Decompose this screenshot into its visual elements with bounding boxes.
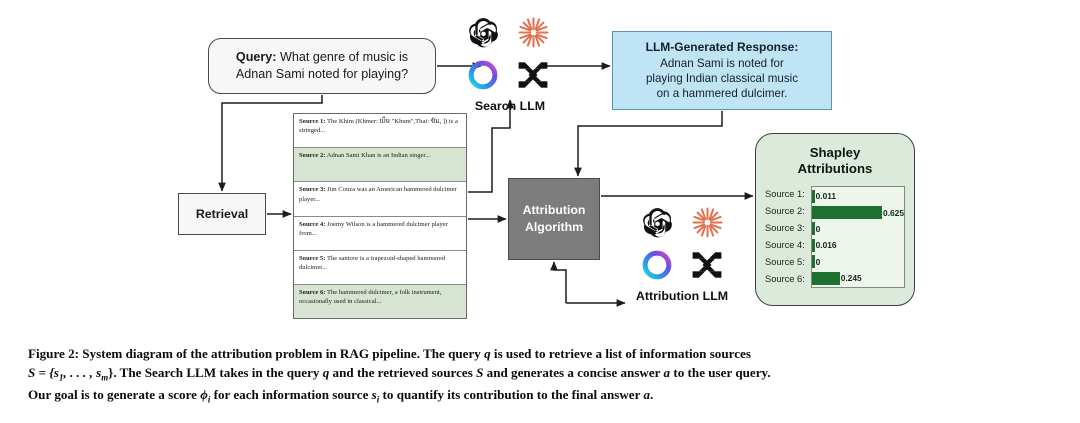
search-llm-cluster: Search LLM <box>458 14 562 113</box>
source-item: Source 4: Joemy Wilson is a hammered dul… <box>294 217 466 251</box>
chart-category-label: Source 6: <box>765 272 811 287</box>
caption-text: Our goal is to generate a score <box>28 387 200 402</box>
shapley-bars-plot: 0.011 0.625 0 0.016 0 <box>811 186 905 288</box>
caption-text: to the user query. <box>670 365 771 380</box>
query-label: Query: <box>236 50 277 64</box>
caption-symbol-phi: ϕ <box>200 387 208 402</box>
chart-bar-row: 0.011 <box>812 189 904 203</box>
shapley-bar-chart: Source 1: Source 2: Source 3: Source 4: … <box>765 186 905 288</box>
caption-text: }. The Search LLM takes in the query <box>108 365 323 380</box>
shapley-title-line1: Shapley <box>765 145 905 161</box>
chart-category-label: Source 4: <box>765 238 811 253</box>
attribution-algorithm-line1: Attribution <box>523 202 586 219</box>
chart-category-label: Source 5: <box>765 255 811 270</box>
chart-bar-value: 0.016 <box>816 240 837 250</box>
chart-bar-row: 0.245 <box>812 271 904 285</box>
source-item: Source 6: The hammered dulcimer, a folk … <box>294 285 466 318</box>
gemini-ring-logo-icon <box>465 57 501 98</box>
gemini-ring-logo-icon <box>639 247 675 288</box>
openai-logo-icon <box>639 204 676 246</box>
llm-response-header: LLM-Generated Response: <box>646 40 799 56</box>
query-text: Query: What genre of music is Adnan Sami… <box>217 49 427 82</box>
llm-response-line3: on a hammered dulcimer. <box>657 86 788 101</box>
chart-bar-value: 0 <box>816 257 821 267</box>
attribution-algorithm-box: Attribution Algorithm <box>508 178 600 260</box>
attribution-llm-caption: Attribution LLM <box>628 289 736 303</box>
chart-bar-value: 0.011 <box>816 191 837 201</box>
source-item: Source 5: The santoor is a trapezoid-sha… <box>294 251 466 285</box>
chart-bar-row: 0 <box>812 222 904 236</box>
chart-bar-row: 0.625 <box>812 206 904 220</box>
shapley-attributions-panel: Shapley Attributions Source 1: Source 2:… <box>755 133 915 306</box>
chart-bar-value: 0 <box>816 224 821 234</box>
source-item: Source 1: The Khim (Khmer: ឃឹម "Khum",Th… <box>294 114 466 148</box>
caption-text: . <box>650 387 653 402</box>
caption-text: and the retrieved sources <box>329 365 476 380</box>
caption-line-1: Figure 2: System diagram of the attribut… <box>28 344 1056 363</box>
source-text: Adnan Sami Khan is an Indian singer... <box>327 152 430 159</box>
caption-text: is used to retrieve a list of informatio… <box>491 346 751 361</box>
chart-bar-value: 0.625 <box>883 208 904 218</box>
anthropic-claude-logo-icon <box>516 15 551 55</box>
mistral-logo-icon <box>515 57 551 98</box>
anthropic-claude-logo-icon <box>690 205 725 245</box>
chart-category-label: Source 2: <box>765 204 811 219</box>
source-item: Source 3: Jim Couza was an American hamm… <box>294 182 466 216</box>
sources-list: Source 1: The Khim (Khmer: ឃឹម "Khum",Th… <box>293 113 467 319</box>
chart-bar-row: 0.016 <box>812 238 904 252</box>
chart-bar <box>812 272 839 285</box>
source-label: Source 2: <box>299 152 325 159</box>
chart-bar <box>812 190 814 203</box>
caption-text: , . . . , s <box>63 365 101 380</box>
caption-line-2: S = {s1, . . . , sm}. The Search LLM tak… <box>28 363 1056 385</box>
caption-text: for each information source <box>210 387 371 402</box>
mistral-logo-icon <box>689 247 725 288</box>
caption-text: and generates a concise answer <box>483 365 663 380</box>
chart-category-label: Source 3: <box>765 221 811 236</box>
llm-response-box: LLM-Generated Response: Adnan Sami is no… <box>612 31 832 110</box>
source-label: Source 3: <box>299 186 325 193</box>
retrieval-box: Retrieval <box>178 193 266 235</box>
llm-response-line2: playing Indian classical music <box>646 71 798 86</box>
chart-bar-value: 0.245 <box>841 273 862 283</box>
chart-bar <box>812 206 882 219</box>
figure-caption: Figure 2: System diagram of the attribut… <box>28 344 1056 407</box>
shapley-title-line2: Attributions <box>765 161 905 177</box>
chart-bar-row: 0 <box>812 255 904 269</box>
source-label: Source 4: <box>299 221 325 228</box>
search-llm-caption: Search LLM <box>458 99 562 113</box>
attribution-llm-logo-grid <box>632 204 736 288</box>
source-label: Source 5: <box>299 255 325 262</box>
attribution-llm-cluster: Attribution LLM <box>632 204 736 303</box>
caption-symbol-S: S = {s <box>28 365 59 380</box>
source-label: Source 1: <box>299 118 325 125</box>
attribution-algorithm-line2: Algorithm <box>525 219 583 236</box>
chart-bar <box>812 255 814 268</box>
shapley-category-labels: Source 1: Source 2: Source 3: Source 4: … <box>765 186 811 288</box>
llm-response-line1: Adnan Sami is noted for <box>660 56 784 71</box>
query-box: Query: What genre of music is Adnan Sami… <box>208 38 436 94</box>
caption-text: to quantify its contribution to the fina… <box>379 387 643 402</box>
source-item: Source 2: Adnan Sami Khan is an Indian s… <box>294 148 466 182</box>
source-label: Source 6: <box>299 289 325 296</box>
retrieval-label: Retrieval <box>196 207 248 221</box>
shapley-title: Shapley Attributions <box>765 145 905 177</box>
chart-category-label: Source 1: <box>765 187 811 202</box>
caption-text: Figure 2: System diagram of the attribut… <box>28 346 484 361</box>
openai-logo-icon <box>465 14 502 56</box>
search-llm-logo-grid <box>458 14 562 98</box>
caption-line-3: Our goal is to generate a score ϕi for e… <box>28 385 1056 407</box>
figure-diagram: Query: What genre of music is Adnan Sami… <box>0 0 1080 330</box>
chart-bar <box>812 239 814 252</box>
chart-bar <box>812 222 814 235</box>
